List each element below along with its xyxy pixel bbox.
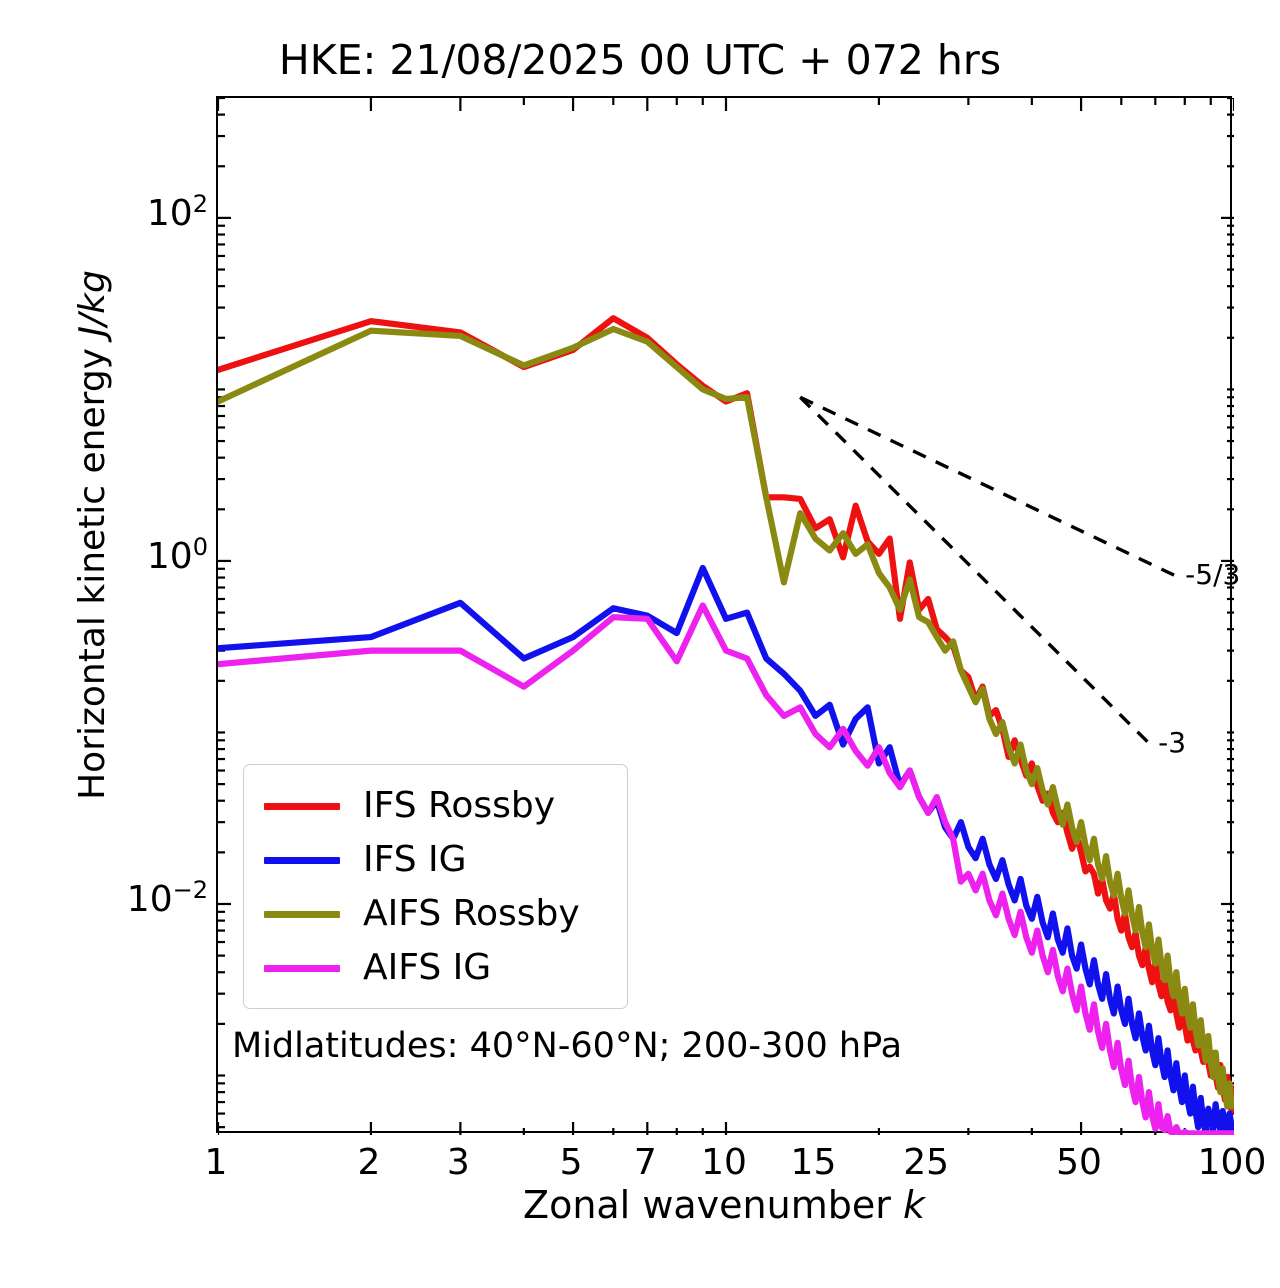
- y-tick-exponent: 2: [193, 190, 208, 218]
- x-tick-label-3: 3: [398, 1142, 518, 1183]
- data-series-group: [218, 318, 1234, 1133]
- x-axis-label-variable: k: [903, 1183, 925, 1227]
- legend-label: AIFS IG: [363, 950, 491, 986]
- y-tick-mantissa: 10: [127, 879, 173, 920]
- legend-label: AIFS Rossby: [363, 896, 580, 932]
- legend-item[interactable]: IFS Rossby: [244, 779, 627, 833]
- legend-label: IFS IG: [363, 842, 467, 878]
- y-tick-exponent: 0: [193, 533, 208, 561]
- legend-box: IFS RossbyIFS IGAIFS RossbyAIFS IG: [243, 764, 628, 1009]
- x-tick-label-25: 25: [866, 1142, 986, 1183]
- legend-color-swatch: [264, 803, 340, 810]
- legend-color-swatch: [264, 965, 340, 972]
- y-axis-label-unit: J/kg: [72, 270, 113, 336]
- region-annotation: Midlatitudes: 40°N-60°N; 200-300 hPa: [232, 1026, 902, 1066]
- x-tick-label-100: 100: [1172, 1142, 1280, 1183]
- legend-item[interactable]: AIFS IG: [244, 941, 627, 995]
- x-axis-label-text: Zonal wavenumber: [523, 1183, 903, 1227]
- legend-color-swatch: [264, 911, 340, 918]
- y-tick-exponent: −2: [173, 876, 208, 904]
- legend-item[interactable]: AIFS Rossby: [244, 887, 627, 941]
- legend-label: IFS Rossby: [363, 788, 555, 824]
- legend-color-swatch: [264, 857, 340, 864]
- page-title: HKE: 21/08/2025 00 UTC + 072 hrs: [0, 36, 1280, 84]
- y-tick-label-0: 102: [58, 190, 208, 234]
- x-axis-label: Zonal wavenumber k: [216, 1183, 1232, 1227]
- y-tick-label-2: 10−2: [58, 876, 208, 920]
- x-tick-label-1: 1: [156, 1142, 276, 1183]
- x-tick-label-50: 50: [1019, 1142, 1139, 1183]
- y-tick-mantissa: 10: [147, 193, 193, 234]
- legend-item[interactable]: IFS IG: [244, 833, 627, 887]
- x-tick-label-15: 15: [753, 1142, 873, 1183]
- figure-canvas: HKE: 21/08/2025 00 UTC + 072 hrs Horizon…: [0, 0, 1280, 1288]
- y-tick-mantissa: 10: [147, 536, 193, 577]
- reference-slope-lines: [800, 397, 1179, 746]
- slope-label-three: -3: [1158, 726, 1186, 759]
- y-tick-label-1: 100: [58, 533, 208, 577]
- slope-label-five-thirds: -5/3: [1185, 558, 1240, 591]
